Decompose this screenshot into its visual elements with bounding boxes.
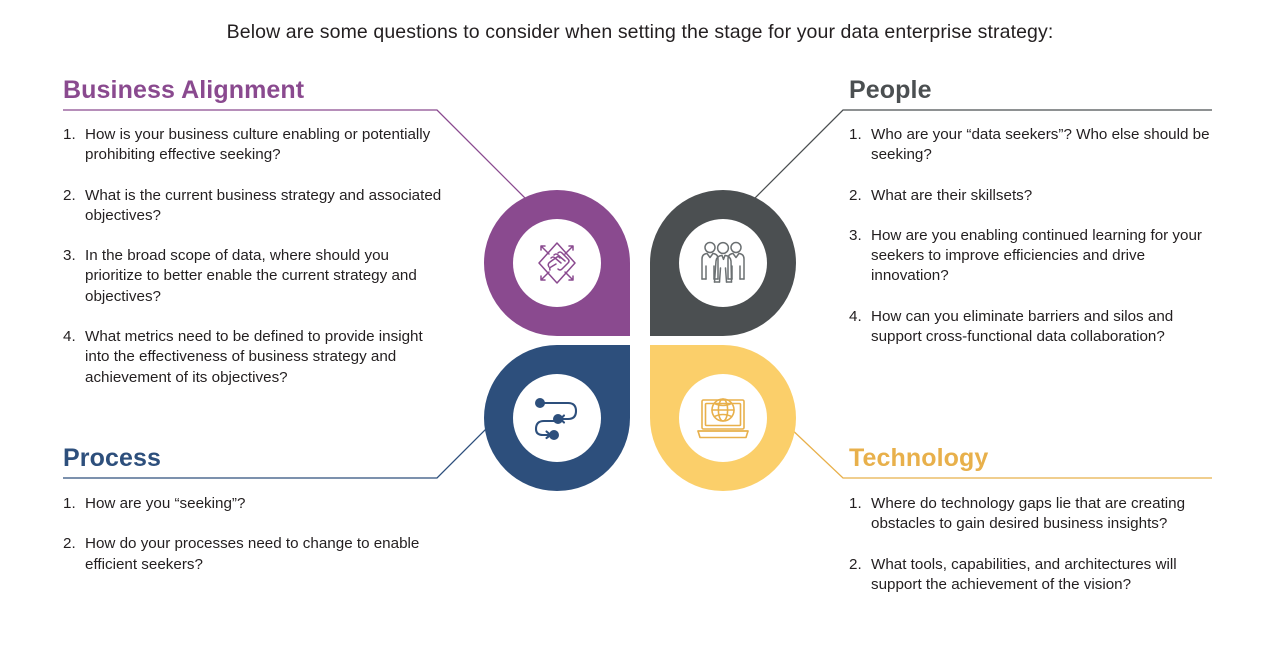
panel-process: Process 1. How are you “seeking”? 2. How… [63,443,445,575]
badge-inner-circle [513,374,601,462]
list-item-text: Where do technology gaps lie that are cr… [871,495,1185,532]
list-item: 1. How is your business culture enabling… [63,125,445,166]
list-item-text: In the broad scope of data, where should… [85,247,417,305]
list-item: 2. What tools, capabilities, and archite… [849,555,1217,596]
list-item-text: How can you eliminate barriers and silos… [871,308,1173,345]
list-item-number: 1. [849,494,869,514]
list-item-number: 1. [63,494,83,514]
list-item: 4. What metrics need to be defined to pr… [63,327,445,388]
list-item-text: How are you enabling continued learning … [871,227,1202,285]
list-item-text: How is your business culture enabling or… [85,126,430,163]
badge-inner-circle [513,219,601,307]
list-item-number: 2. [849,555,869,575]
workflow-dots-icon [530,394,584,442]
list-item: 3. In the broad scope of data, where sho… [63,246,445,307]
list-item-text: What tools, capabilities, and architectu… [871,556,1177,593]
badge-inner-circle [679,374,767,462]
list-item: 2. What is the current business strategy… [63,186,445,227]
question-list-people: 1. Who are your “data seekers”? Who else… [849,125,1217,347]
list-item-text: How are you “seeking”? [85,495,245,512]
question-list-technology: 1. Where do technology gaps lie that are… [849,494,1217,595]
heading-process: Process [63,443,445,473]
list-item-text: Who are your “data seekers”? Who else sh… [871,126,1210,163]
heading-business-alignment: Business Alignment [63,75,445,105]
question-list-business-alignment: 1. How is your business culture enabling… [63,125,445,388]
list-item: 3. How are you enabling continued learni… [849,226,1217,287]
heading-people: People [849,75,1217,105]
list-item: 2. What are their skillsets? [849,186,1217,206]
list-item-number: 2. [63,534,83,554]
icon-badge-people [650,190,796,336]
three-people-icon [697,239,749,287]
list-item: 2. How do your processes need to change … [63,534,445,575]
icon-badge-process [484,345,630,491]
list-item-number: 3. [849,226,869,246]
list-item-number: 4. [849,307,869,327]
icon-badge-business-alignment [484,190,630,336]
laptop-globe-icon [695,395,751,441]
list-item: 1. Where do technology gaps lie that are… [849,494,1217,535]
handshake-teamwork-icon [531,237,583,289]
panel-business-alignment: Business Alignment 1. How is your busine… [63,75,445,388]
list-item-text: How do your processes need to change to … [85,535,419,572]
list-item: 1. Who are your “data seekers”? Who else… [849,125,1217,166]
question-list-process: 1. How are you “seeking”? 2. How do your… [63,494,445,575]
panel-technology: Technology 1. Where do technology gaps l… [849,443,1217,595]
list-item-number: 1. [63,125,83,145]
list-item-number: 2. [849,186,869,206]
list-item-text: What metrics need to be defined to provi… [85,328,423,386]
heading-technology: Technology [849,443,1217,473]
list-item-number: 4. [63,327,83,347]
page-title: Below are some questions to consider whe… [0,19,1280,45]
list-item-text: What are their skillsets? [871,187,1032,204]
list-item: 1. How are you “seeking”? [63,494,445,514]
list-item-number: 1. [849,125,869,145]
center-icon-cluster [484,190,796,490]
icon-badge-technology [650,345,796,491]
list-item-text: What is the current business strategy an… [85,187,441,224]
list-item: 4. How can you eliminate barriers and si… [849,307,1217,348]
list-item-number: 2. [63,186,83,206]
badge-inner-circle [679,219,767,307]
panel-people: People 1. Who are your “data seekers”? W… [849,75,1217,347]
list-item-number: 3. [63,246,83,266]
infographic-canvas: Below are some questions to consider whe… [0,0,1280,650]
